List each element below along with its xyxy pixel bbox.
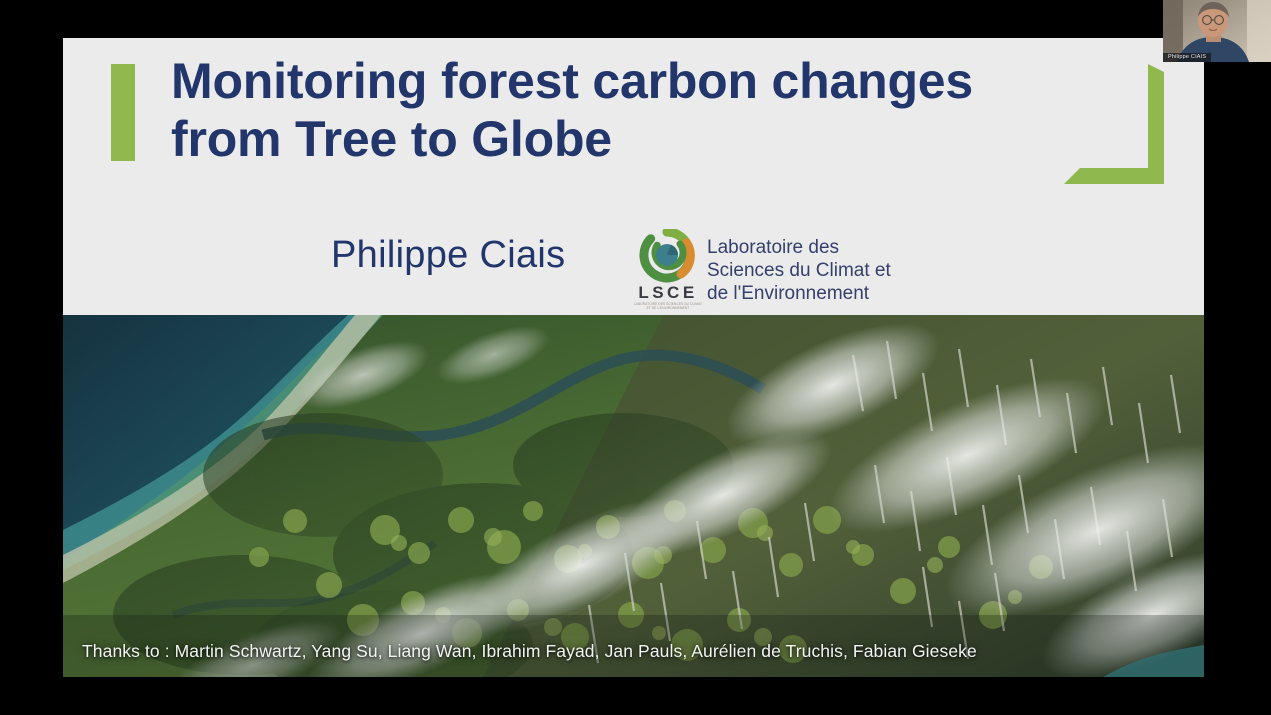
green-corner-bracket-decoration [1060, 64, 1168, 184]
presenter-row: Philippe Ciais LSCE [63, 234, 1204, 316]
lsce-acronym: LSCE [631, 283, 705, 303]
presenter-name: Philippe Ciais [331, 234, 565, 277]
green-accent-bar [111, 64, 135, 161]
lab-full-name: Laboratoire des Sciences du Climat et de… [707, 236, 891, 306]
lsce-logo-fineprint: LABORATOIRE DES SCIENCES DU CLIMAT ET DE… [631, 302, 705, 311]
participant-video-tile[interactable]: Philippe CIAIS [1163, 0, 1271, 62]
aerial-forest-photo: Thanks to : Martin Schwartz, Yang Su, Li… [63, 315, 1204, 677]
slide-title: Monitoring forest carbon changes from Tr… [171, 52, 1091, 168]
participant-name-label: Philippe CIAIS [1163, 53, 1211, 62]
acknowledgements-credit: Thanks to : Martin Schwartz, Yang Su, Li… [82, 641, 977, 662]
shared-screen-view: Monitoring forest carbon changes from Tr… [0, 0, 1271, 715]
lsce-swirl-icon [635, 229, 699, 285]
presentation-slide: Monitoring forest carbon changes from Tr… [63, 38, 1204, 677]
lsce-logo: LSCE LABORATOIRE DES SCIENCES DU CLIMAT … [631, 229, 705, 311]
